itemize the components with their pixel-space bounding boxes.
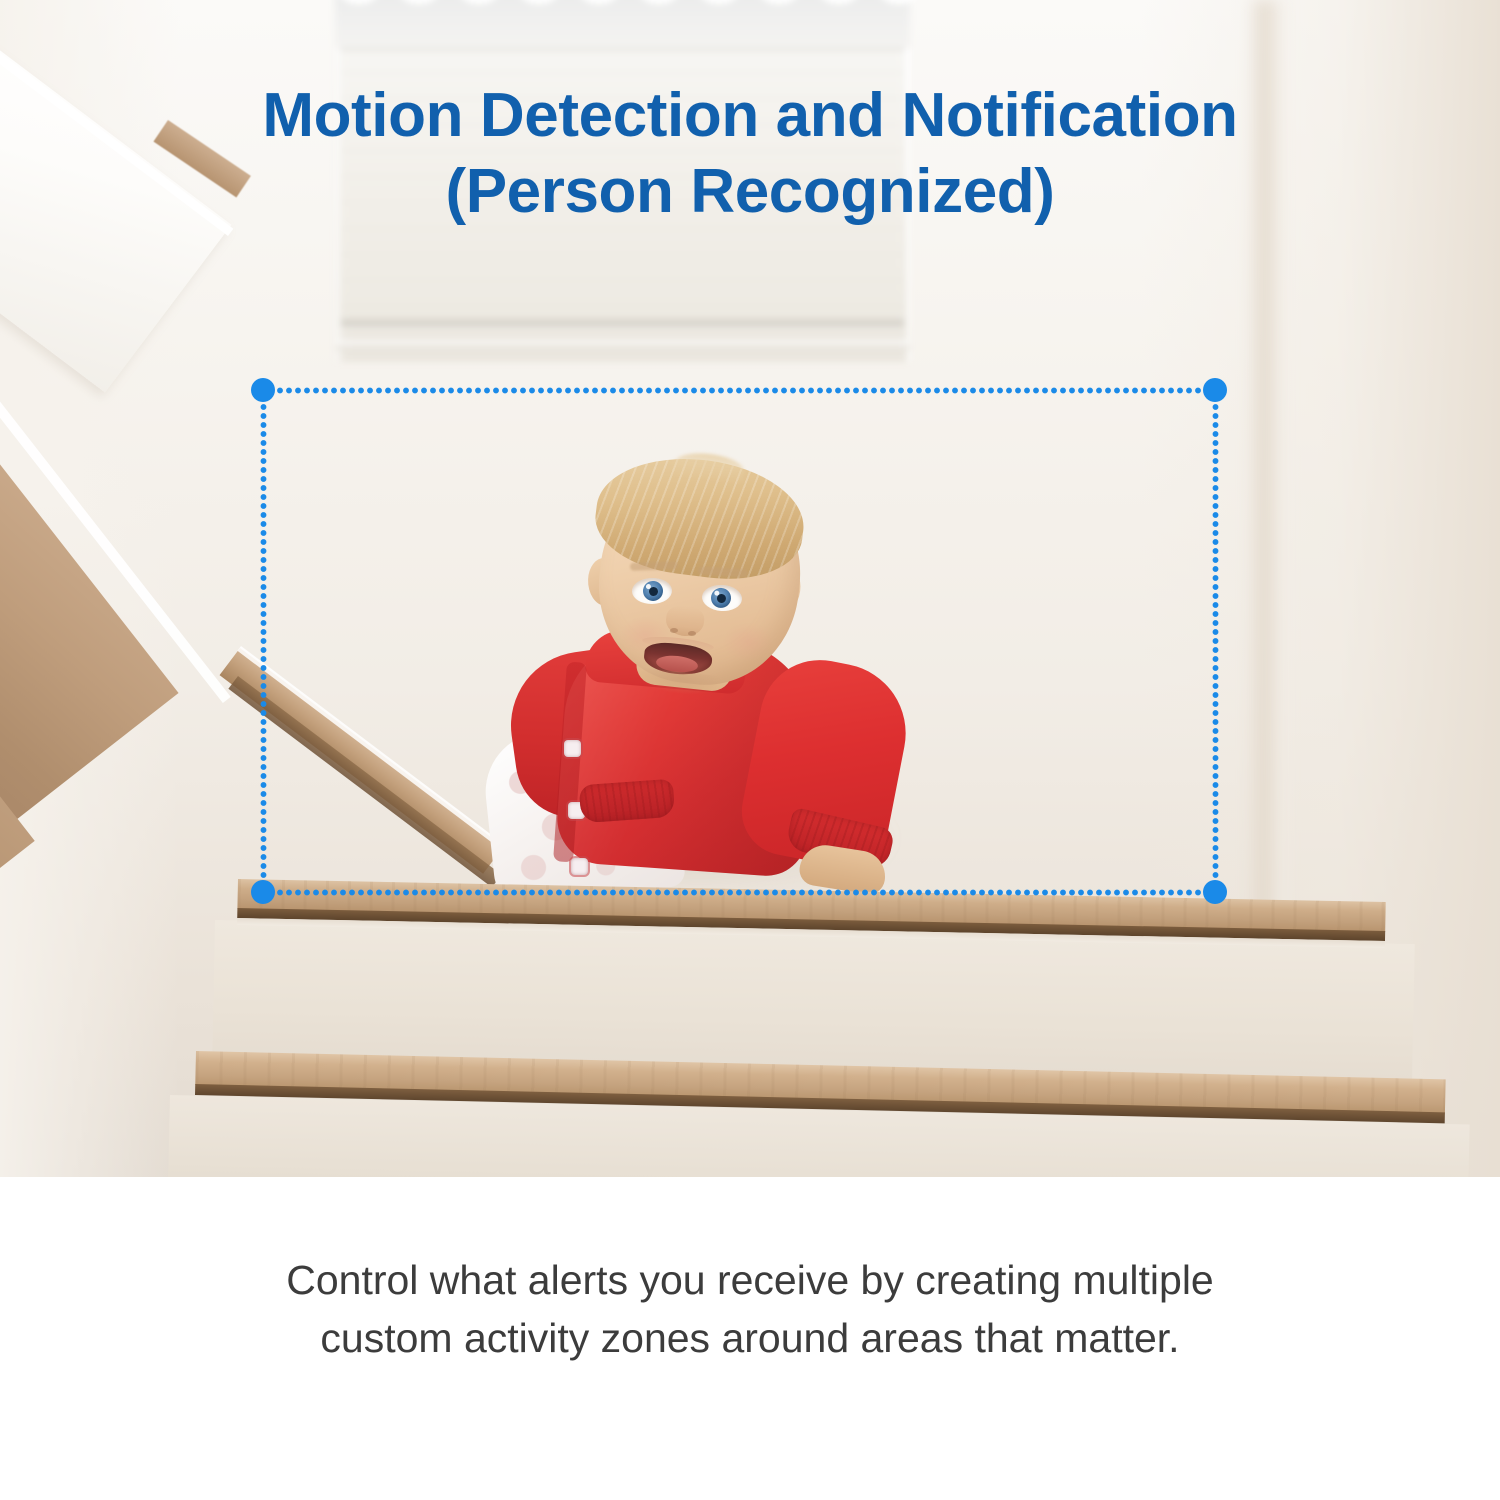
camera-view-image: Motion Detection and Notification (Perso… [0, 0, 1500, 1177]
zone-edge-top[interactable] [263, 387, 1215, 394]
page-title-line-2: (Person Recognized) [0, 154, 1500, 230]
window-valance [335, 0, 910, 48]
zone-edge-bottom[interactable] [263, 889, 1215, 896]
caption-section: Control what alerts you receive by creat… [0, 1177, 1500, 1500]
blind-bottom-rail [341, 317, 904, 326]
zone-handle-top-left[interactable] [251, 378, 275, 402]
zone-handle-bottom-right[interactable] [1203, 880, 1227, 904]
promo-page: Motion Detection and Notification (Perso… [0, 0, 1500, 1500]
window-sill [335, 340, 910, 350]
zone-edge-left[interactable] [260, 390, 267, 892]
page-title-line-1: Motion Detection and Notification [262, 81, 1237, 150]
zone-handle-top-right[interactable] [1203, 378, 1227, 402]
page-title: Motion Detection and Notification (Perso… [0, 78, 1500, 231]
activity-zone-overlay[interactable] [263, 390, 1215, 892]
valance-scallops [329, 0, 929, 4]
zone-edge-right[interactable] [1212, 390, 1219, 892]
zone-handle-bottom-left[interactable] [251, 880, 275, 904]
caption-text: Control what alerts you receive by creat… [250, 1251, 1250, 1367]
